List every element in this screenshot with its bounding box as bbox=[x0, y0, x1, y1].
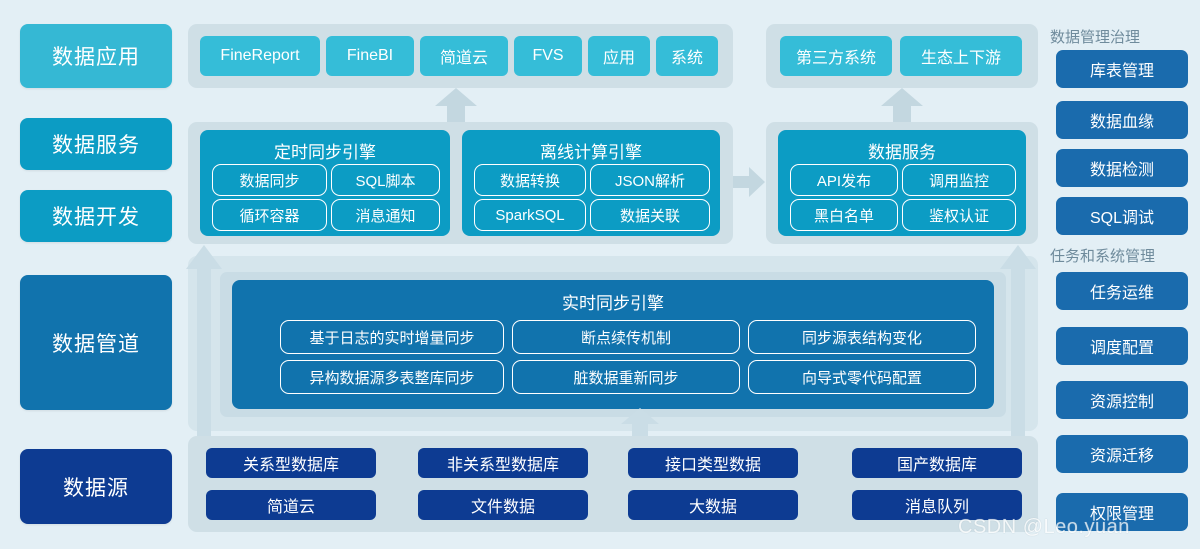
source-chip-label: 国产数据库 bbox=[897, 451, 977, 475]
source-chip-label: 文件数据 bbox=[471, 493, 535, 517]
app-chip-label: 系统 bbox=[671, 44, 703, 68]
side-chip-data-detection[interactable]: 数据检测 bbox=[1056, 149, 1188, 187]
app-chip-application[interactable]: 应用 bbox=[588, 36, 650, 76]
source-chip-message-queue[interactable]: 消息队列 bbox=[852, 490, 1022, 520]
engine-sub-data-join[interactable]: 数据关联 bbox=[590, 199, 710, 231]
side-chip-label: 调度配置 bbox=[1090, 334, 1154, 358]
side-chip-label: 任务运维 bbox=[1090, 279, 1154, 303]
engine-sub-message-notify[interactable]: 消息通知 bbox=[331, 199, 440, 231]
side-chip-resource-control[interactable]: 资源控制 bbox=[1056, 381, 1188, 419]
layer-label-data-application: 数据应用 bbox=[20, 24, 172, 88]
source-chip-label: 简道云 bbox=[267, 493, 315, 517]
side-group-title-task-system: 任务和系统管理 bbox=[1050, 245, 1155, 266]
source-chip-domestic-db[interactable]: 国产数据库 bbox=[852, 448, 1022, 478]
arrow-up-engine-to-application bbox=[435, 88, 477, 124]
app-chip-label: 应用 bbox=[603, 44, 635, 68]
realtime-sub-label: 脏数据重新同步 bbox=[573, 367, 678, 388]
side-chip-table-management[interactable]: 库表管理 bbox=[1056, 50, 1188, 88]
layer-label-text: 数据服务 bbox=[52, 129, 140, 159]
engine-sub-label: 数据同步 bbox=[239, 170, 299, 191]
arrow-up-service-to-external bbox=[881, 88, 923, 124]
external-chip-label: 第三方系统 bbox=[796, 44, 876, 68]
layer-label-data-service: 数据服务 bbox=[20, 118, 172, 170]
source-chip-label: 接口类型数据 bbox=[665, 451, 761, 475]
source-chip-big-data[interactable]: 大数据 bbox=[628, 490, 798, 520]
side-chip-resource-migration[interactable]: 资源迁移 bbox=[1056, 435, 1188, 473]
app-chip-finebi[interactable]: FineBI bbox=[326, 36, 414, 76]
layer-label-text: 数据源 bbox=[63, 472, 129, 502]
side-chip-data-lineage[interactable]: 数据血缘 bbox=[1056, 101, 1188, 139]
engine-sub-label: 循环容器 bbox=[239, 205, 299, 226]
app-chip-finereport[interactable]: FineReport bbox=[200, 36, 320, 76]
realtime-sub-label: 异构数据源多表整库同步 bbox=[309, 367, 474, 388]
side-chip-label: 库表管理 bbox=[1090, 57, 1154, 81]
engine-sub-label: 数据转换 bbox=[500, 170, 560, 191]
engine-sub-label: 数据关联 bbox=[620, 205, 680, 226]
engine-sub-sql-script[interactable]: SQL脚本 bbox=[331, 164, 440, 196]
layer-label-text: 数据开发 bbox=[52, 201, 140, 231]
source-chip-relational-db[interactable]: 关系型数据库 bbox=[206, 448, 376, 478]
source-chip-label: 非关系型数据库 bbox=[447, 451, 559, 475]
realtime-sub-label: 断点续传机制 bbox=[581, 327, 671, 348]
engine-title: 离线计算引擎 bbox=[462, 138, 720, 163]
engine-sub-data-sync[interactable]: 数据同步 bbox=[212, 164, 327, 196]
source-chip-nonrelational-db[interactable]: 非关系型数据库 bbox=[418, 448, 588, 478]
realtime-sub-schema-change[interactable]: 同步源表结构变化 bbox=[748, 320, 976, 354]
app-chip-fvs[interactable]: FVS bbox=[514, 36, 582, 76]
engine-sub-label: JSON解析 bbox=[615, 170, 685, 191]
engine-sub-label: 调用监控 bbox=[929, 170, 989, 191]
engine-sub-auth[interactable]: 鉴权认证 bbox=[902, 199, 1016, 231]
source-chip-file-data[interactable]: 文件数据 bbox=[418, 490, 588, 520]
source-chip-interface-data[interactable]: 接口类型数据 bbox=[628, 448, 798, 478]
arrow-up-left-source-to-service bbox=[186, 245, 222, 445]
layer-label-data-development: 数据开发 bbox=[20, 190, 172, 242]
realtime-engine-title: 实时同步引擎 bbox=[232, 289, 994, 314]
engine-sub-call-monitor[interactable]: 调用监控 bbox=[902, 164, 1016, 196]
engine-sub-label: API发布 bbox=[817, 170, 871, 191]
app-chip-label: FineReport bbox=[220, 47, 299, 65]
app-chip-label: 简道云 bbox=[440, 44, 488, 68]
architecture-diagram: 数据应用 数据服务 数据开发 数据管道 数据源 FineReport FineB… bbox=[0, 0, 1200, 549]
engine-sub-sparksql[interactable]: SparkSQL bbox=[474, 199, 586, 231]
engine-sub-label: SQL脚本 bbox=[355, 170, 415, 191]
app-chip-jiandaoyun[interactable]: 简道云 bbox=[420, 36, 508, 76]
side-chip-label: 资源迁移 bbox=[1090, 442, 1154, 466]
side-chip-sql-debug[interactable]: SQL调试 bbox=[1056, 197, 1188, 235]
side-chip-permission-management[interactable]: 权限管理 bbox=[1056, 493, 1188, 531]
app-chip-label: FineBI bbox=[347, 47, 393, 65]
side-chip-label: 数据检测 bbox=[1090, 156, 1154, 180]
app-chip-label: FVS bbox=[532, 47, 563, 65]
engine-sub-json-parse[interactable]: JSON解析 bbox=[590, 164, 710, 196]
engine-sub-label: 黑白名单 bbox=[814, 205, 874, 226]
app-chip-system[interactable]: 系统 bbox=[656, 36, 718, 76]
realtime-sub-label: 基于日志的实时增量同步 bbox=[309, 327, 474, 348]
side-chip-label: 数据血缘 bbox=[1090, 108, 1154, 132]
source-chip-label: 关系型数据库 bbox=[243, 451, 339, 475]
realtime-sub-dirty-data-resync[interactable]: 脏数据重新同步 bbox=[512, 360, 740, 394]
layer-label-data-pipeline: 数据管道 bbox=[20, 275, 172, 410]
engine-sub-data-transform[interactable]: 数据转换 bbox=[474, 164, 586, 196]
side-chip-label: 资源控制 bbox=[1090, 388, 1154, 412]
layer-label-data-source: 数据源 bbox=[20, 449, 172, 524]
engine-sub-label: 鉴权认证 bbox=[929, 205, 989, 226]
engine-sub-label: 消息通知 bbox=[355, 205, 415, 226]
engine-title: 数据服务 bbox=[778, 138, 1026, 163]
source-chip-label: 大数据 bbox=[689, 493, 737, 517]
realtime-sub-log-based-incremental[interactable]: 基于日志的实时增量同步 bbox=[280, 320, 504, 354]
external-chip-label: 生态上下游 bbox=[921, 44, 1001, 68]
external-chip-ecosystem[interactable]: 生态上下游 bbox=[900, 36, 1022, 76]
external-chip-third-party[interactable]: 第三方系统 bbox=[780, 36, 892, 76]
realtime-sub-label: 同步源表结构变化 bbox=[802, 327, 922, 348]
engine-sub-loop-container[interactable]: 循环容器 bbox=[212, 199, 327, 231]
layer-label-text: 数据管道 bbox=[52, 328, 140, 358]
source-chip-jiandaoyun[interactable]: 简道云 bbox=[206, 490, 376, 520]
engine-sub-label: SparkSQL bbox=[495, 207, 564, 224]
source-chip-label: 消息队列 bbox=[905, 493, 969, 517]
side-chip-label: SQL调试 bbox=[1090, 204, 1154, 228]
engine-sub-api-publish[interactable]: API发布 bbox=[790, 164, 898, 196]
side-chip-schedule-config[interactable]: 调度配置 bbox=[1056, 327, 1188, 365]
side-group-title-governance: 数据管理治理 bbox=[1050, 26, 1140, 47]
engine-sub-blacklist[interactable]: 黑白名单 bbox=[790, 199, 898, 231]
realtime-sub-heterogeneous-sync[interactable]: 异构数据源多表整库同步 bbox=[280, 360, 504, 394]
engine-title: 定时同步引擎 bbox=[200, 138, 450, 163]
realtime-sub-label: 向导式零代码配置 bbox=[802, 367, 922, 388]
arrow-right-engine-to-service bbox=[733, 167, 765, 197]
realtime-sub-wizard-zero-code[interactable]: 向导式零代码配置 bbox=[748, 360, 976, 394]
side-chip-task-ops[interactable]: 任务运维 bbox=[1056, 272, 1188, 310]
side-chip-label: 权限管理 bbox=[1090, 500, 1154, 524]
layer-label-text: 数据应用 bbox=[52, 41, 140, 71]
realtime-sub-resume-transfer[interactable]: 断点续传机制 bbox=[512, 320, 740, 354]
